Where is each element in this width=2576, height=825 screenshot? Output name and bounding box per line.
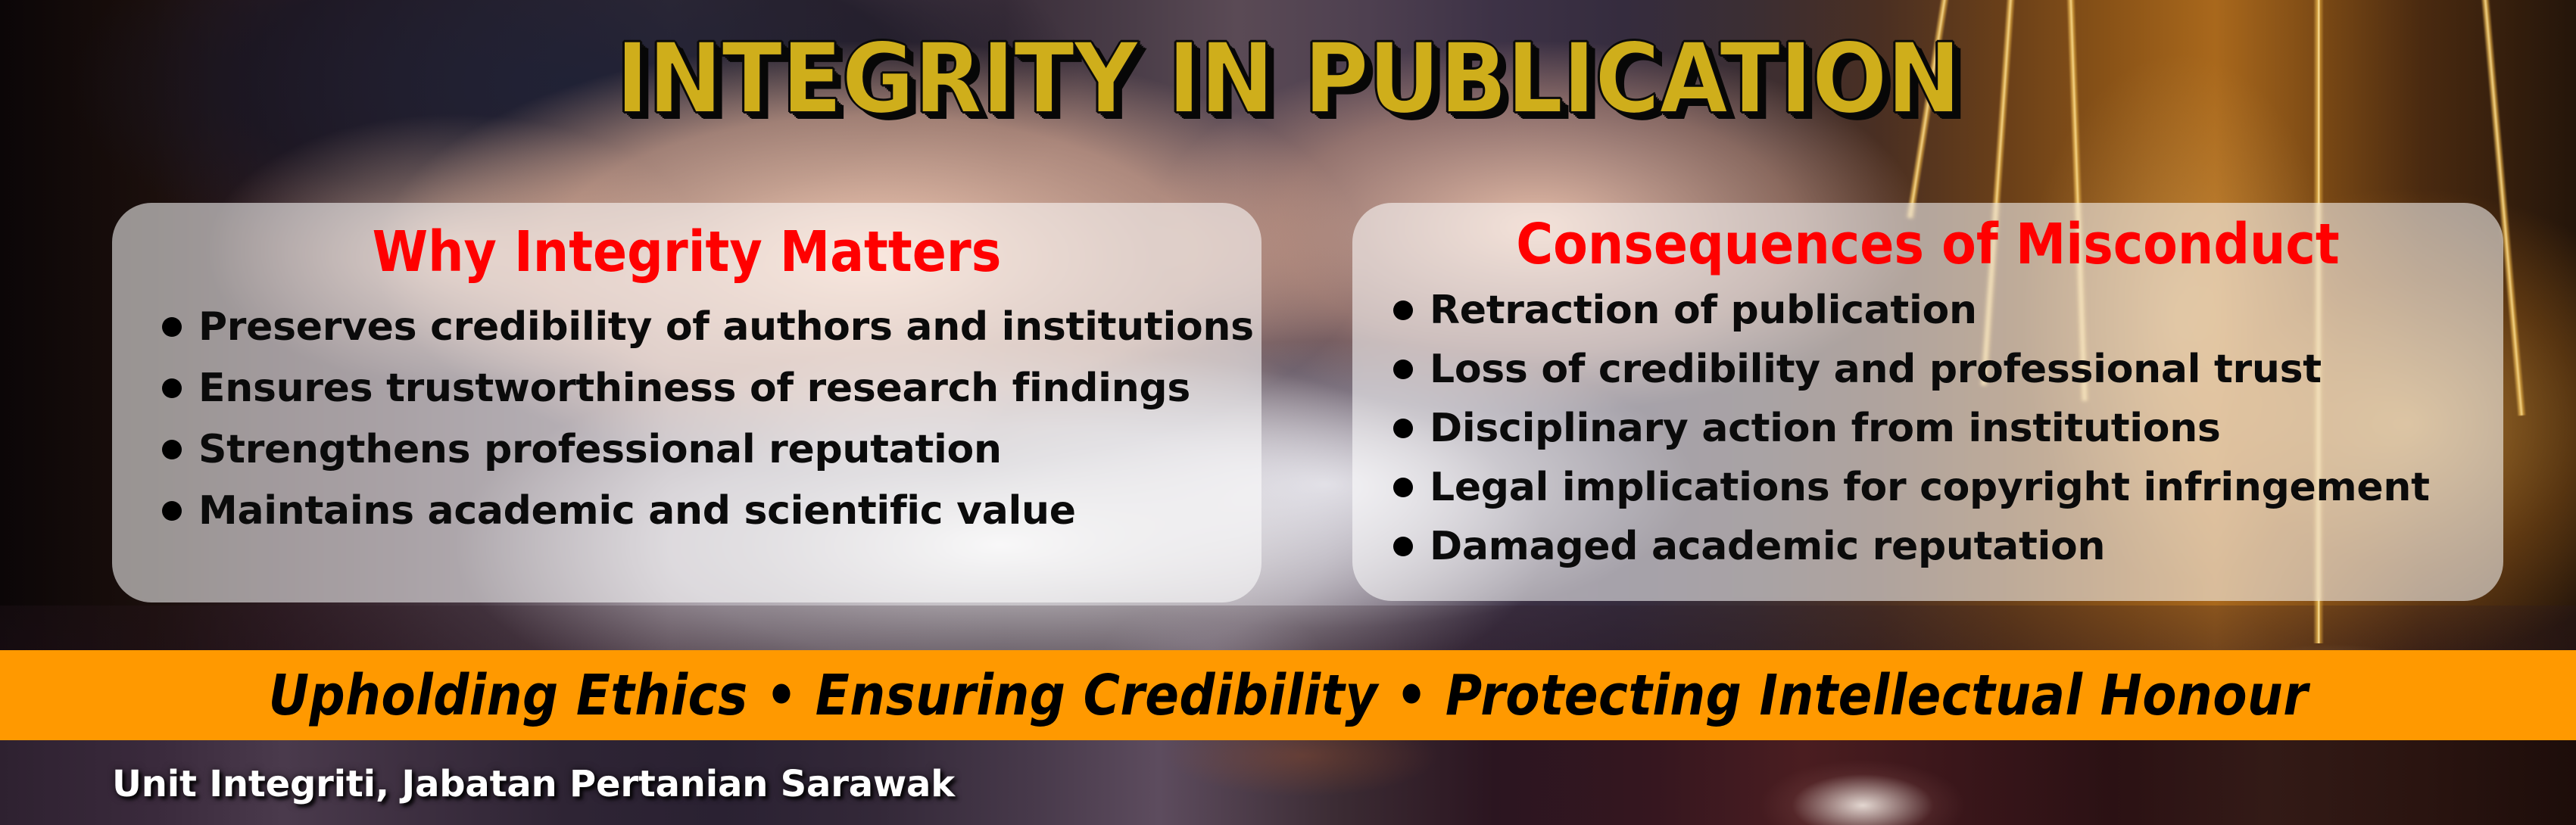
- bullet-dot-icon: [1393, 360, 1413, 379]
- bullet-dot-icon: [162, 440, 182, 459]
- list-item: Strengthens professional reputation: [162, 425, 1261, 474]
- list-item-label: Strengthens professional reputation: [198, 425, 1002, 474]
- footer-organisation-text: Unit Integriti, Jabatan Pertanian Sarawa…: [112, 763, 955, 805]
- list-item: Maintains academic and scientific value: [162, 487, 1261, 535]
- list-item-label: Preserves credibility of authors and ins…: [198, 303, 1254, 351]
- list-item-label: Ensures trustworthiness of research find…: [198, 364, 1190, 412]
- bullet-dot-icon: [1393, 478, 1413, 497]
- card-right-bullet-list: Retraction of publication Loss of credib…: [1393, 286, 2503, 571]
- bullet-dot-icon: [162, 317, 182, 337]
- footer-band: Unit Integriti, Jabatan Pertanian Sarawa…: [0, 740, 2576, 825]
- list-item: Retraction of publication: [1393, 286, 2503, 335]
- list-item-label: Disciplinary action from institutions: [1430, 404, 2221, 453]
- list-item: Disciplinary action from institutions: [1393, 404, 2503, 453]
- list-item-label: Retraction of publication: [1430, 286, 1977, 335]
- list-item: Legal implications for copyright infring…: [1393, 463, 2503, 512]
- list-item-label: Loss of credibility and professional tru…: [1430, 345, 2322, 394]
- infographic-banner: INTEGRITY IN PUBLICATION Why Integrity M…: [0, 0, 2576, 825]
- card-left-heading: Why Integrity Matters: [112, 221, 1261, 283]
- list-item: Loss of credibility and professional tru…: [1393, 345, 2503, 394]
- bullet-dot-icon: [162, 378, 182, 398]
- bullet-dot-icon: [1393, 300, 1413, 320]
- card-left-bullet-list: Preserves credibility of authors and ins…: [162, 303, 1261, 535]
- card-why-integrity-matters: Why Integrity Matters Preserves credibil…: [112, 203, 1261, 602]
- bullet-dot-icon: [1393, 419, 1413, 438]
- list-item-label: Legal implications for copyright infring…: [1430, 463, 2430, 512]
- list-item: Damaged academic reputation: [1393, 522, 2503, 571]
- card-consequences-of-misconduct: Consequences of Misconduct Retraction of…: [1352, 203, 2503, 601]
- tagline-text: Upholding Ethics • Ensuring Credibility …: [268, 664, 2308, 727]
- bullet-dot-icon: [1393, 537, 1413, 556]
- card-right-heading: Consequences of Misconduct: [1352, 213, 2503, 276]
- list-item-label: Damaged academic reputation: [1430, 522, 2105, 571]
- list-item-label: Maintains academic and scientific value: [198, 487, 1076, 535]
- list-item: Ensures trustworthiness of research find…: [162, 364, 1261, 412]
- page-title: INTEGRITY IN PUBLICATION: [0, 26, 2576, 133]
- list-item: Preserves credibility of authors and ins…: [162, 303, 1261, 351]
- bullet-dot-icon: [162, 501, 182, 521]
- tagline-band: Upholding Ethics • Ensuring Credibility …: [0, 650, 2576, 740]
